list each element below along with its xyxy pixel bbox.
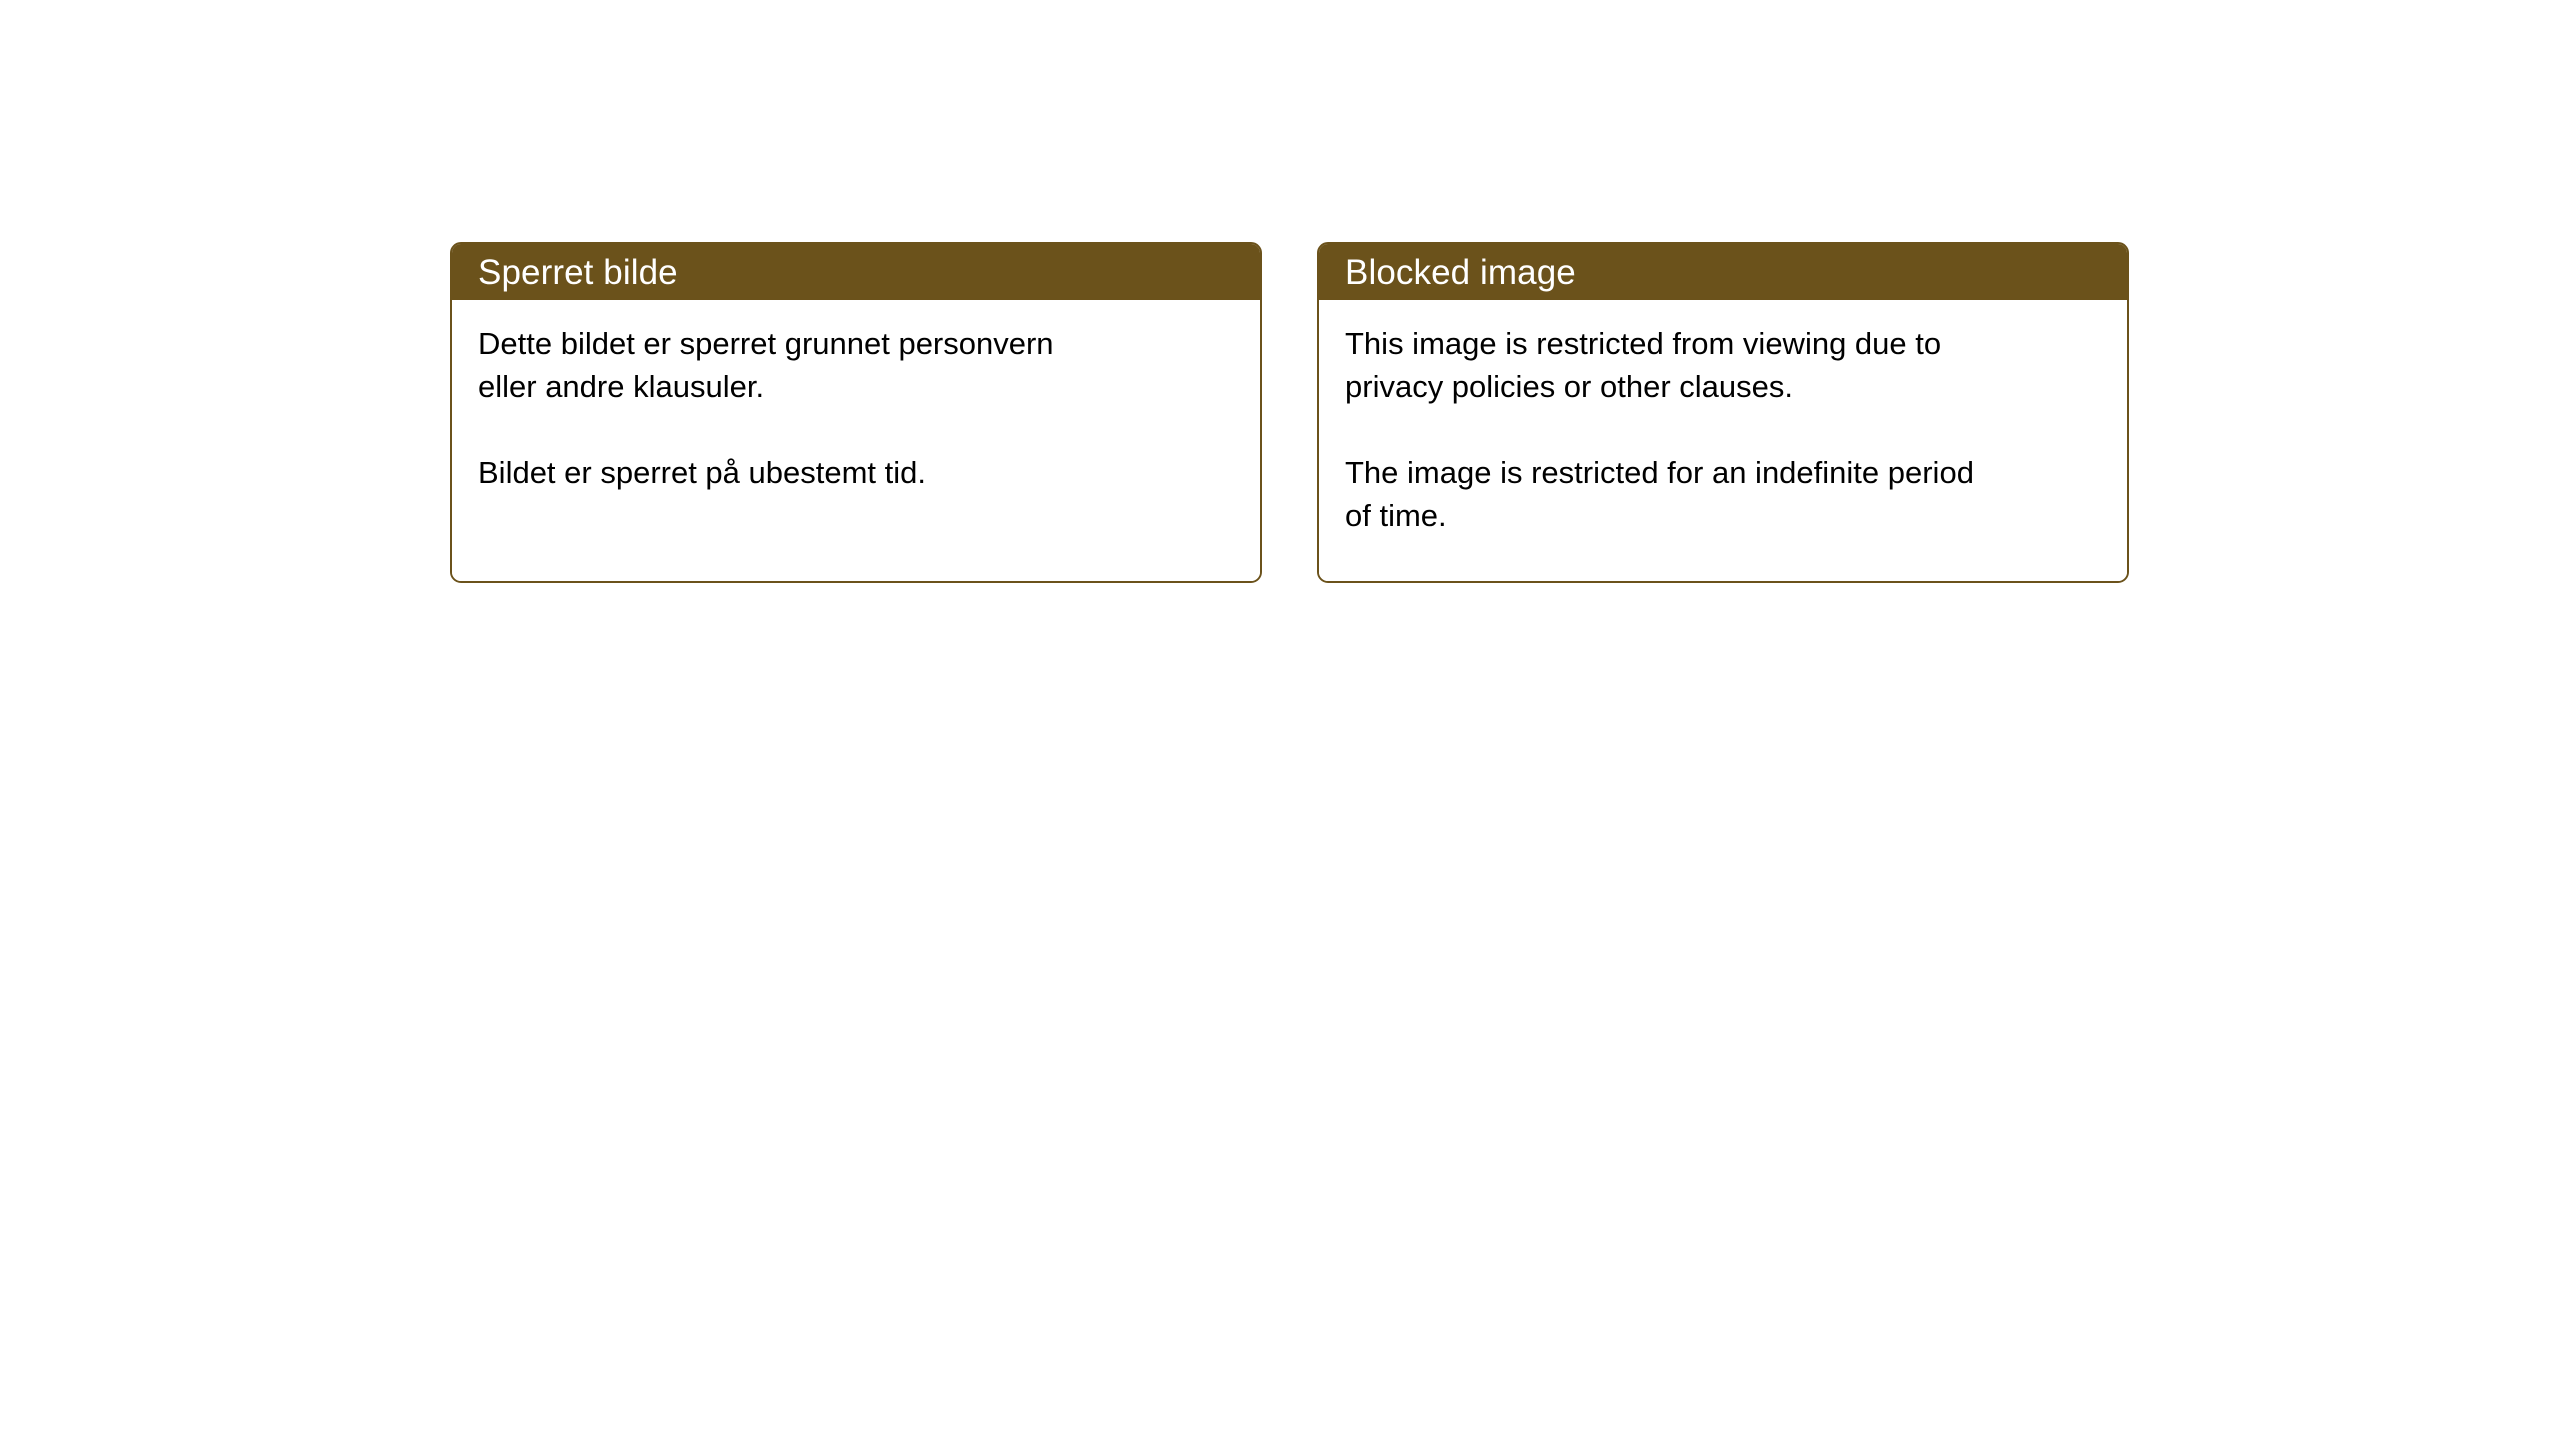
panel-title-english: Blocked image: [1345, 255, 1576, 290]
blocked-image-notices: Sperret bilde Dette bildet er sperret gr…: [450, 242, 2129, 583]
panel-title-norwegian: Sperret bilde: [478, 255, 678, 290]
blocked-image-notice-english: Blocked image This image is restricted f…: [1317, 242, 2129, 583]
notice-paragraph-duration-english: The image is restricted for an indefinit…: [1345, 451, 2101, 537]
blocked-image-notice-norwegian: Sperret bilde Dette bildet er sperret gr…: [450, 242, 1262, 583]
panel-body-norwegian: Dette bildet er sperret grunnet personve…: [452, 300, 1260, 581]
panel-body-english: This image is restricted from viewing du…: [1319, 300, 2127, 581]
notice-paragraph-privacy-norwegian: Dette bildet er sperret grunnet personve…: [478, 322, 1234, 408]
notice-paragraph-duration-norwegian: Bildet er sperret på ubestemt tid.: [478, 451, 1234, 494]
panel-header-norwegian: Sperret bilde: [452, 244, 1260, 300]
notice-paragraph-privacy-english: This image is restricted from viewing du…: [1345, 322, 2101, 408]
panel-header-english: Blocked image: [1319, 244, 2127, 300]
